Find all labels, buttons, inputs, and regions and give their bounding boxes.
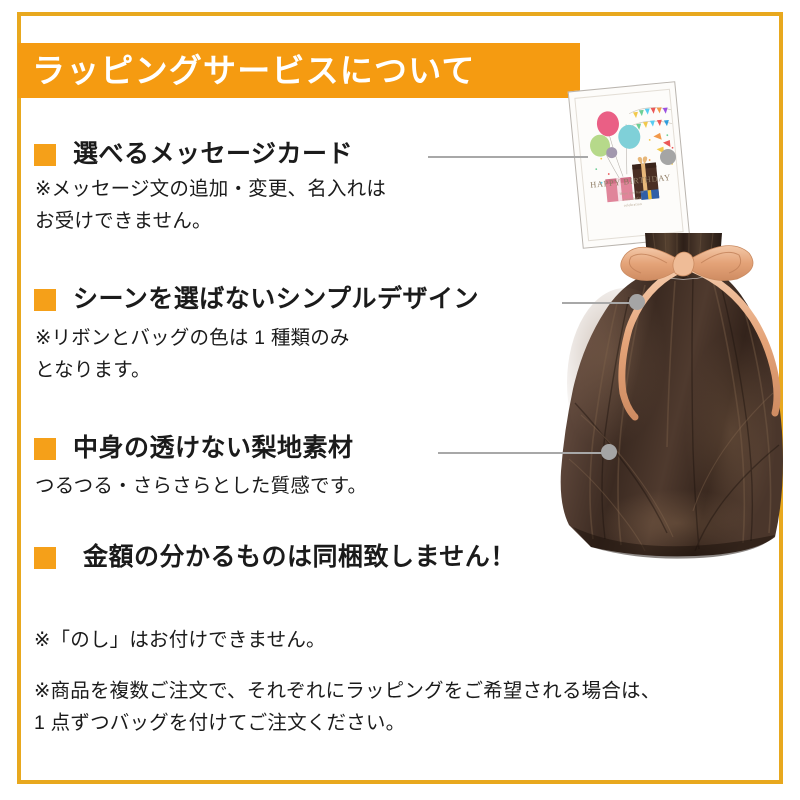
balloons-icon xyxy=(587,108,642,160)
bullet-square-icon xyxy=(34,547,56,569)
feature-title: 選べるメッセージカード xyxy=(73,142,353,167)
card-paper: HAPPY BIRTHDAY Hope you have a wonderful… xyxy=(568,81,691,249)
callout-dot-material xyxy=(601,444,617,460)
footnote-line: ※「のし」はお付けできません。 xyxy=(34,625,326,657)
greeting-card-image: HAPPY BIRTHDAY Hope you have a wonderful… xyxy=(568,81,691,249)
footnote-multiple-orders: ※商品を複数ご注文で、それぞれにラッピングをご希望される場合は、 1 点ずつバッ… xyxy=(34,676,660,739)
bullet-square-icon xyxy=(34,438,56,460)
bullet-square-icon xyxy=(34,289,56,311)
gift-bag-artwork xyxy=(517,233,800,563)
feature-opaque-material: 中身の透けない梨地素材 つるつる・さらさらとした質感です。 xyxy=(34,436,367,503)
feature-note-line-1: ※リボンとバッグの色は 1 種類のみ xyxy=(35,323,479,355)
callout-dot-simple-design xyxy=(629,294,645,310)
feature-heading: 金額の分かるものは同梱致しません！ xyxy=(34,545,516,570)
leader-line-message-card xyxy=(428,156,588,158)
feature-title: 金額の分かるものは同梱致しません！ xyxy=(83,545,516,570)
frame-border-bottom xyxy=(17,780,783,784)
feature-message-card: 選べるメッセージカード ※メッセージ文の追加・変更、名入れは お受けできません。 xyxy=(34,142,386,237)
feature-title: シーンを選ばないシンプルデザイン xyxy=(73,287,479,312)
footnote-line-1: ※商品を複数ご注文で、それぞれにラッピングをご希望される場合は、 xyxy=(34,676,660,708)
footnote-no-noshi: ※「のし」はお付けできません。 xyxy=(34,625,326,657)
feature-heading: シーンを選ばないシンプルデザイン xyxy=(34,287,479,312)
feature-note-line-1: ※メッセージ文の追加・変更、名入れは xyxy=(35,174,386,206)
feature-simple-design: シーンを選ばないシンプルデザイン ※リボンとバッグの色は 1 種類のみ となりま… xyxy=(34,287,479,386)
infographic-canvas: ラッピングサービスについて xyxy=(0,0,800,800)
feature-note-line-1: つるつる・さらさらとした質感です。 xyxy=(35,471,367,503)
frame-border-left xyxy=(17,12,21,784)
feature-heading: 選べるメッセージカード xyxy=(34,142,386,167)
card-inner-border xyxy=(574,89,683,242)
callout-dot-message-card xyxy=(660,149,676,165)
footnote-line-2: 1 点ずつバッグを付けてご注文ください。 xyxy=(34,708,660,740)
page-title: ラッピングサービスについて xyxy=(18,54,476,87)
leader-line-material xyxy=(438,452,610,454)
bullet-square-icon xyxy=(34,144,56,166)
feature-heading: 中身の透けない梨地素材 xyxy=(34,436,367,461)
gift-bag-image xyxy=(517,233,800,563)
feature-title: 中身の透けない梨地素材 xyxy=(73,436,354,461)
feature-no-price-included: 金額の分かるものは同梱致しません！ xyxy=(34,545,516,570)
feature-note-line-2: お受けできません。 xyxy=(35,206,386,238)
feature-note-line-2: となります。 xyxy=(35,355,479,387)
page-title-banner: ラッピングサービスについて xyxy=(18,43,580,98)
card-artwork xyxy=(575,89,683,241)
frame-border-top xyxy=(17,12,783,16)
